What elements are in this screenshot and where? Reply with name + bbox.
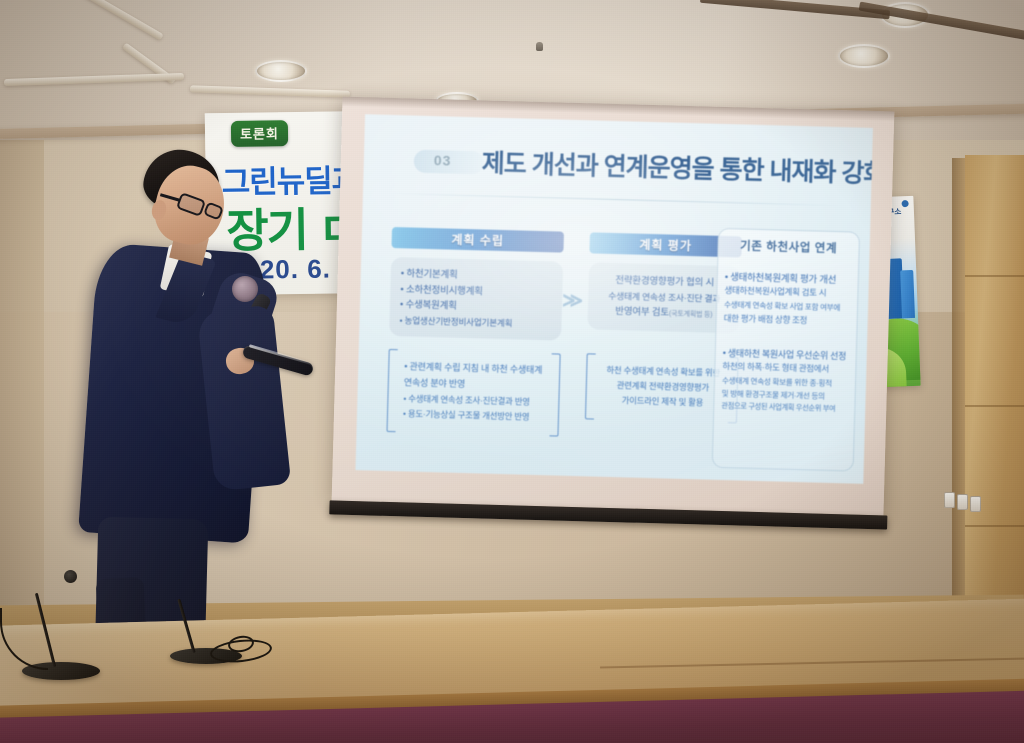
light-switch[interactable] [944, 492, 955, 508]
light-switch[interactable] [970, 496, 981, 512]
projected-slide: 03 제도 개선과 연계운영을 통한 내재화 강화 계획 수립 • 하천기본계획… [355, 114, 872, 484]
downlight-icon [255, 60, 307, 82]
column-bullet-panel: • 하천기본계획 • 소하천정비시행계획 • 수생복원계획 • 농업생산기반정비… [389, 257, 563, 341]
projection-screen: 03 제도 개선과 연계운영을 통한 내재화 강화 계획 수립 • 하천기본계획… [332, 97, 895, 516]
center-line: 반영여부 검토(국토계획법 등) [596, 304, 732, 324]
slide-title: 제도 개선과 연계운영을 통한 내재화 강화 [481, 143, 873, 190]
column-bracket-note: • 관련계획 수립 지침 내 하천 수생태계 연속성 분야 반영 • 수생태계 … [387, 349, 561, 434]
left-wall-panel [0, 120, 44, 620]
center-note: (국토계획법 등) [669, 311, 713, 319]
banner-badge: 토론회 [231, 120, 288, 147]
wood-wall-panel [965, 155, 1024, 635]
sprinkler-icon [536, 42, 543, 51]
microphone-icon [232, 276, 258, 302]
column-header: 계획 수립 [391, 227, 564, 253]
bullet-item: • 농업생산기반정비사업기본계획 [399, 313, 551, 331]
column-header: 기존 하천사업 연계 [725, 234, 852, 258]
light-switch[interactable] [957, 494, 968, 510]
column-group: • 생태하천 복원사업 우선순위 선정 하천의 하폭·하도 형태 관점에서 수생… [721, 346, 849, 416]
downlight-icon [838, 44, 890, 68]
microphone-icon [64, 570, 77, 583]
chevron-right-icon: ≫ [562, 288, 581, 313]
bracket-line: 가이드라인 제작 및 활용 [601, 393, 723, 411]
building-icon [900, 270, 915, 318]
slide-column-existing-project: 기존 하천사업 연계 • 생태하천복원계획 평가 개선 생태하천복원사업계획 검… [721, 234, 852, 416]
title-divider [391, 193, 843, 206]
slide-column-plan-establishment: 계획 수립 • 하천기본계획 • 소하천정비시행계획 • 수생복원계획 • 농업… [387, 227, 564, 434]
center-line-text: 반영여부 검토 [615, 306, 669, 318]
presentation-photo-scene: 토론회 그린뉴딜과 장기 ㄷ 2020. 6. 2 시민환경연구소 03 제도 … [0, 0, 1024, 743]
bracket-line: • 용도·기능상실 구조물 개선방안 반영 [403, 406, 545, 425]
section-number: 03 [434, 152, 452, 168]
column-group: • 생태하천복원계획 평가 개선 생태하천복원사업계획 검토 시 수생태계 연속… [723, 269, 850, 329]
